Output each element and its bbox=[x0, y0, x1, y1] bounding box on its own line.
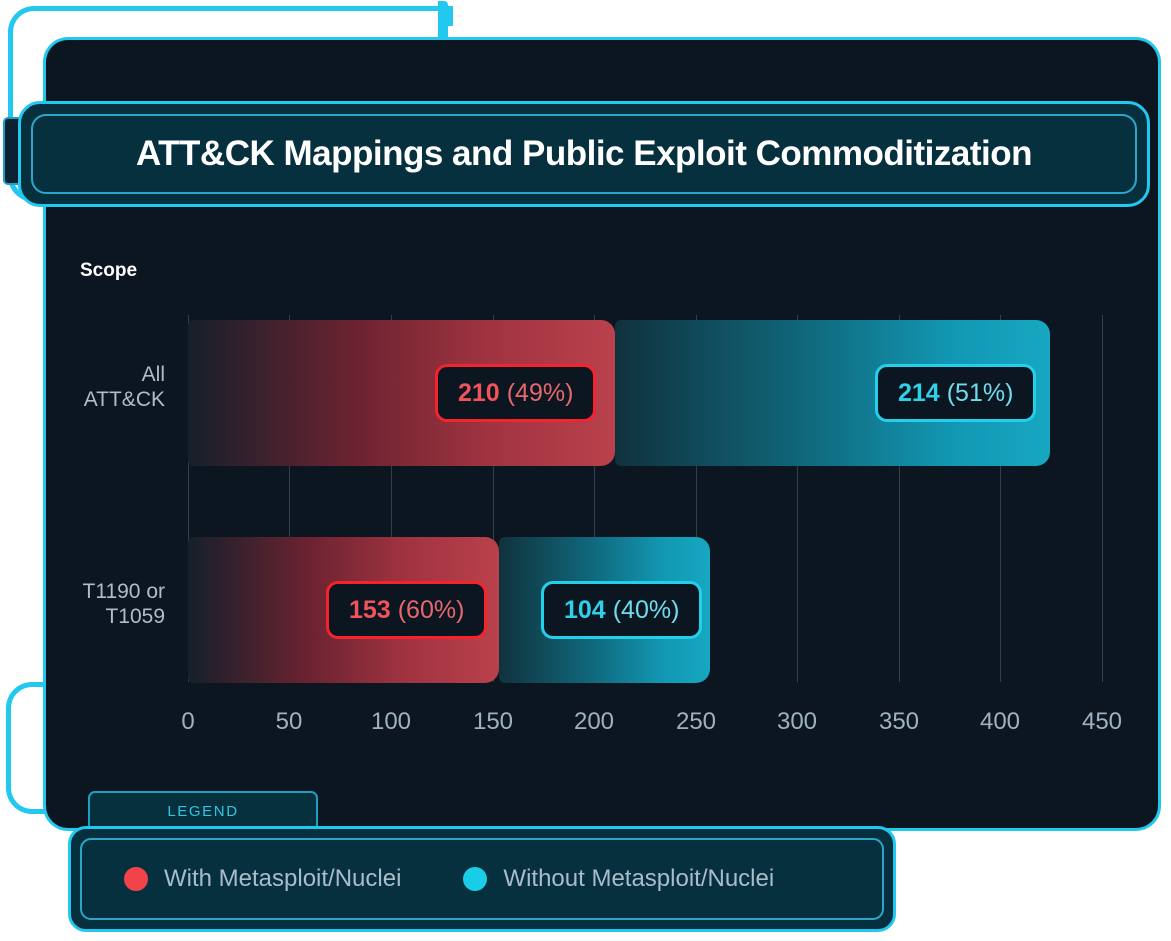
x-tick: 350 bbox=[879, 708, 919, 736]
x-tick: 450 bbox=[1082, 708, 1122, 736]
page-title: ATT&CK Mappings and Public Exploit Commo… bbox=[136, 134, 1032, 174]
bar-label-percent: (40%) bbox=[613, 596, 680, 625]
bar-label-red: 153 (60%) bbox=[326, 581, 487, 639]
legend-swatch-red-icon bbox=[124, 867, 148, 891]
legend-item-with-metasploit[interactable]: With Metasploit/Nuclei bbox=[124, 865, 401, 893]
title-banner: ATT&CK Mappings and Public Exploit Commo… bbox=[18, 101, 1150, 207]
legend-swatch-cyan-icon bbox=[463, 867, 487, 891]
legend-tab-label: LEGEND bbox=[167, 803, 238, 820]
x-axis: 0 50 100 150 200 250 300 350 400 450 bbox=[188, 708, 1102, 742]
x-tick: 400 bbox=[980, 708, 1020, 736]
legend-item-without-metasploit[interactable]: Without Metasploit/Nuclei bbox=[463, 865, 774, 893]
bar-label-value: 214 bbox=[898, 379, 940, 408]
bar-label-percent: (51%) bbox=[947, 379, 1014, 408]
y-axis-title: Scope bbox=[80, 260, 137, 282]
legend-panel-inner: With Metasploit/Nuclei Without Metasploi… bbox=[80, 838, 884, 920]
legend-item-label: With Metasploit/Nuclei bbox=[164, 865, 401, 893]
category-label-all-attck: All ATT&CK bbox=[10, 363, 165, 413]
legend-panel: With Metasploit/Nuclei Without Metasploi… bbox=[68, 826, 896, 932]
title-banner-inner: ATT&CK Mappings and Public Exploit Commo… bbox=[31, 114, 1137, 194]
bar-label-red: 210 (49%) bbox=[435, 364, 596, 422]
bar-label-cyan: 214 (51%) bbox=[875, 364, 1036, 422]
gridline bbox=[1102, 315, 1103, 682]
x-tick: 250 bbox=[676, 708, 716, 736]
x-tick: 100 bbox=[371, 708, 411, 736]
x-tick: 300 bbox=[777, 708, 817, 736]
legend-tab[interactable]: LEGEND bbox=[88, 791, 318, 829]
category-label-t1190-t1059: T1190 or T1059 bbox=[10, 580, 165, 630]
x-tick: 0 bbox=[181, 708, 194, 736]
legend-item-label: Without Metasploit/Nuclei bbox=[503, 865, 774, 893]
x-tick: 150 bbox=[473, 708, 513, 736]
x-tick: 200 bbox=[574, 708, 614, 736]
bar-label-percent: (60%) bbox=[398, 596, 465, 625]
bar-label-percent: (49%) bbox=[507, 379, 574, 408]
bar-label-value: 153 bbox=[349, 596, 391, 625]
x-tick: 50 bbox=[276, 708, 303, 736]
screenshot-root: ATT&CK Mappings and Public Exploit Commo… bbox=[0, 0, 1171, 941]
bar-label-value: 210 bbox=[458, 379, 500, 408]
bar-label-cyan: 104 (40%) bbox=[541, 581, 702, 639]
bar-label-value: 104 bbox=[564, 596, 606, 625]
plot-area: 210 (49%) 214 (51%) 153 (60%) 104 (40%) bbox=[188, 315, 1102, 682]
